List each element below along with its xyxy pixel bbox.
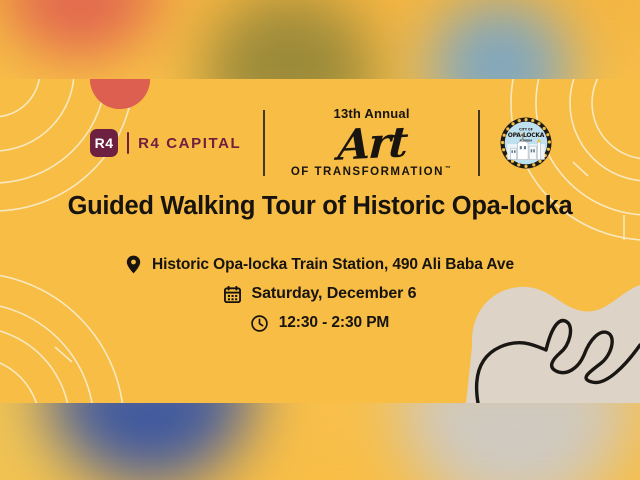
detail-row-date: Saturday, December 6 xyxy=(224,285,417,303)
blurred-letterbox-top xyxy=(0,0,640,79)
art-subtitle: OF TRANSFORMATION xyxy=(291,167,444,179)
seal-bottom-label: FLORIDA xyxy=(520,138,533,142)
r4-wordmark: R4 CAPITAL xyxy=(138,135,241,152)
logo-divider-left xyxy=(263,110,265,176)
blurred-letterbox-bottom xyxy=(0,403,640,480)
date-text: Saturday, December 6 xyxy=(252,285,417,303)
city-seal-icon: CITY OF OPA-LOCKA FLORIDA xyxy=(500,117,552,169)
r4-mark-icon: R4 xyxy=(90,129,118,157)
art-of-transformation-logo: 13th Annual Art OF TRANSFORMATION ™ xyxy=(265,101,479,185)
trademark-symbol: ™ xyxy=(445,166,453,172)
detail-row-location: Historic Opa-locka Train Station, 490 Al… xyxy=(126,255,514,274)
art-subtitle-row: OF TRANSFORMATION ™ xyxy=(291,167,453,179)
location-text: Historic Opa-locka Train Station, 490 Al… xyxy=(152,256,514,274)
art-script-wordmark: Art xyxy=(336,121,407,167)
r4-divider xyxy=(127,132,129,154)
seal-city-label: OPA-LOCKA xyxy=(508,132,545,139)
r4-mark-text: R4 xyxy=(95,135,114,151)
flyer-artwork: R4 R4 CAPITAL 13th Annual Art OF TRANSFO… xyxy=(0,79,640,403)
time-text: 12:30 - 2:30 PM xyxy=(279,314,390,332)
logo-strip: R4 R4 CAPITAL 13th Annual Art OF TRANSFO… xyxy=(0,101,640,185)
calendar-icon xyxy=(224,286,241,303)
flyer-stage: R4 R4 CAPITAL 13th Annual Art OF TRANSFO… xyxy=(0,0,640,480)
detail-row-time: 12:30 - 2:30 PM xyxy=(251,314,390,332)
flyer-content: R4 R4 CAPITAL 13th Annual Art OF TRANSFO… xyxy=(0,79,640,403)
clock-icon xyxy=(251,315,268,332)
event-details: Historic Opa-locka Train Station, 490 Al… xyxy=(0,255,640,332)
event-headline: Guided Walking Tour of Historic Opa-lock… xyxy=(0,192,640,221)
location-pin-icon xyxy=(126,255,141,274)
opa-locka-city-seal: CITY OF OPA-LOCKA FLORIDA xyxy=(480,101,572,185)
seal-top-label: CITY OF xyxy=(519,128,533,132)
r4-capital-logo: R4 R4 CAPITAL xyxy=(68,101,263,185)
logo-divider-right xyxy=(478,110,480,176)
